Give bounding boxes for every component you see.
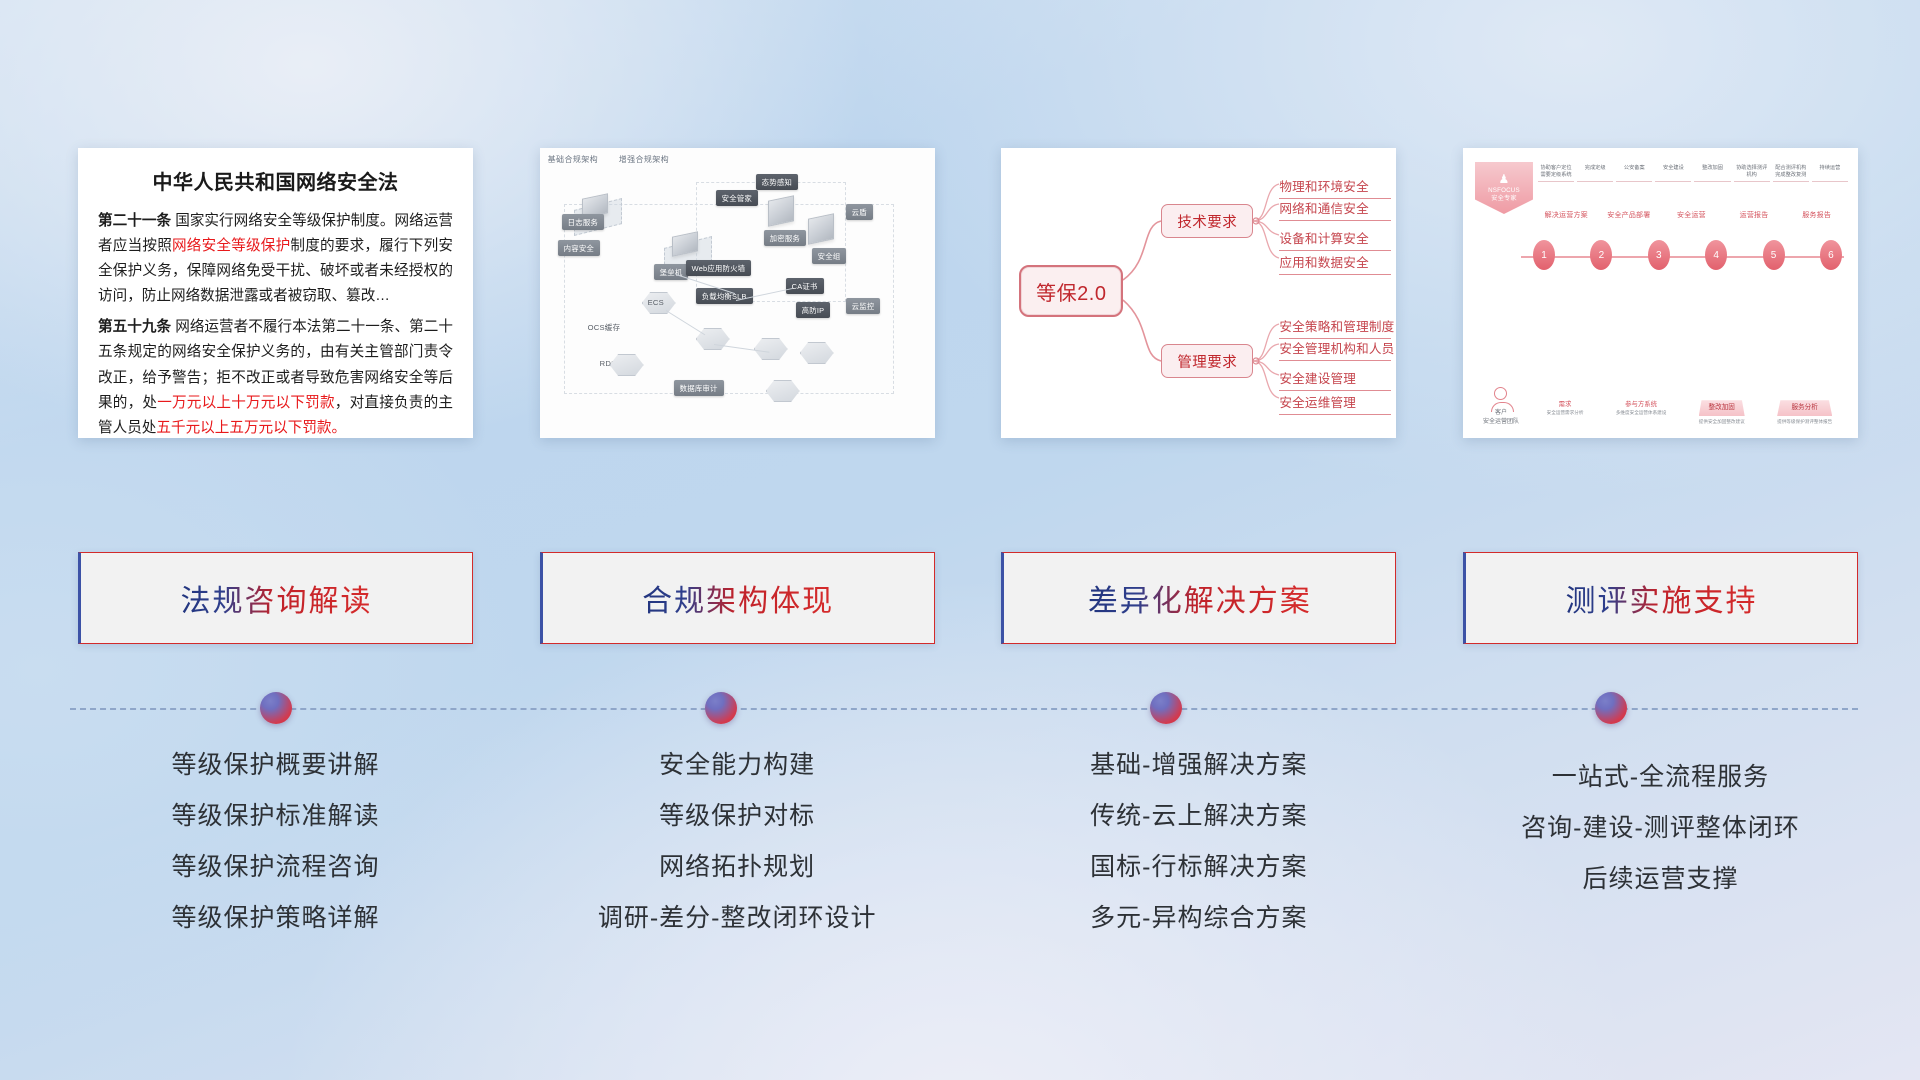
nsfocus-step-dot: 3 bbox=[1648, 240, 1670, 270]
nsfocus-process-chips: 协助客户定位需要定级系统 完成定级 公安备案 安全建设 整改加固 协助选择测评机… bbox=[1538, 162, 1848, 182]
category-header-label: 测评实施支持 bbox=[1565, 576, 1757, 620]
architecture-node-ocs: OCS缓存 bbox=[588, 322, 621, 333]
law-card-title: 中华人民共和国网络安全法 bbox=[98, 166, 453, 195]
timeline-dot-3[interactable] bbox=[1150, 692, 1182, 724]
nsfocus-report-label: 服务分析 bbox=[1777, 400, 1832, 416]
nsfocus-step-dot: 1 bbox=[1533, 240, 1555, 270]
service-list-row: 等级保护概要讲解 等级保护标准解读 等级保护流程咨询 等级保护策略详解 安全能力… bbox=[78, 740, 1858, 944]
category-header-compliance-architecture[interactable]: 合规架构体现 bbox=[540, 552, 935, 644]
nsfocus-tag-group: 需求 安全运营需求分析 参与方系统 多维度安全运营体系建设 整改加固 提供安全加… bbox=[1533, 400, 1846, 426]
nsfocus-report-tag: 服务分析 提供等级保护测评整体报告 bbox=[1777, 400, 1832, 426]
nsfocus-participation-tag: 参与方系统 多维度安全运营体系建设 bbox=[1616, 400, 1667, 426]
mindmap-branch-management: 管理要求 bbox=[1161, 344, 1253, 378]
nsfocus-brand: NSFOCUS bbox=[1488, 187, 1520, 195]
architecture-node-encryption-service: 加密服务 bbox=[764, 230, 806, 246]
nsfocus-step-dot: 4 bbox=[1705, 240, 1727, 270]
nsfocus-step-dot: 5 bbox=[1763, 240, 1785, 270]
list-item: 调研-差分-整改闭环设计 bbox=[540, 893, 935, 944]
architecture-node-content-security: 内容安全 bbox=[558, 240, 600, 256]
list-item: 咨询-建设-测评整体闭环 bbox=[1463, 803, 1858, 854]
nsfocus-stage: 解决运营方案 bbox=[1537, 210, 1596, 220]
nsfocus-chip: 公安备案 bbox=[1616, 165, 1652, 182]
shield-person-icon: ♟ bbox=[1498, 173, 1509, 185]
nsfocus-chip: 安全建设 bbox=[1655, 165, 1691, 182]
poster-stage: 中华人民共和国网络安全法 第二十一条 国家实行网络安全等级保护制度。网络运营者应… bbox=[0, 0, 1920, 1080]
nsfocus-rectification-tag: 整改加固 提供安全加固整改建议 bbox=[1699, 400, 1745, 426]
list-item: 等级保护策略详解 bbox=[78, 893, 473, 944]
mindmap-branch-technical: 技术要求 bbox=[1161, 204, 1253, 238]
list-item: 等级保护对标 bbox=[540, 791, 935, 842]
law-article-59-highlight-2: 五千元以上五万元以下罚款。 bbox=[156, 420, 346, 436]
architecture-node-waf: Web应用防火墙 bbox=[686, 260, 752, 276]
architecture-tag-enhanced: 增强合规架构 bbox=[619, 155, 669, 164]
service-list-differentiated-solution: 基础-增强解决方案 传统-云上解决方案 国标-行标解决方案 多元-异构综合方案 bbox=[1001, 740, 1396, 944]
nsfocus-participation-label: 参与方系统 bbox=[1616, 400, 1667, 410]
nsfocus-rectification-label: 整改加固 bbox=[1699, 400, 1745, 416]
mindmap-leaf-physical-env: 物理和环境安全 bbox=[1279, 176, 1391, 199]
architecture-node-situational-awareness: 态势感知 bbox=[756, 174, 798, 190]
architecture-node-cloud-shield: 云盾 bbox=[846, 204, 873, 220]
nsfocus-chip: 协助选择测评机构 bbox=[1734, 165, 1770, 182]
timeline-dot-row bbox=[78, 678, 1858, 738]
nsfocus-report-caption: 提供等级保护测评整体报告 bbox=[1777, 419, 1832, 426]
category-header-label: 合规架构体现 bbox=[642, 576, 834, 620]
nsfocus-customer-figure: 客户 安全运营团队 bbox=[1475, 387, 1527, 426]
architecture-node-cloud-monitor: 云监控 bbox=[846, 298, 881, 314]
architecture-node-db-audit: 数据库审计 bbox=[674, 380, 724, 396]
nsfocus-stage: 安全运营 bbox=[1662, 210, 1721, 220]
law-article-59-highlight: 一万元以上十万元以下罚款 bbox=[157, 395, 335, 411]
nsfocus-chip: 协助客户定位需要定级系统 bbox=[1538, 165, 1574, 182]
nsfocus-step-dot: 2 bbox=[1590, 240, 1612, 270]
architecture-node-ca-cert: CA证书 bbox=[786, 278, 824, 294]
law-article-21: 第二十一条 国家实行网络安全等级保护制度。网络运营者应当按照网络安全等级保护制度… bbox=[98, 209, 453, 309]
list-item: 安全能力构建 bbox=[540, 740, 935, 791]
law-article-59-number: 第五十九条 bbox=[98, 319, 171, 335]
category-header-label: 差异化解决方案 bbox=[1088, 576, 1312, 620]
nsfocus-brand-sub: 安全专家 bbox=[1491, 195, 1517, 203]
service-list-compliance-architecture: 安全能力构建 等级保护对标 网络拓扑规划 调研-差分-整改闭环设计 bbox=[540, 740, 935, 944]
mindmap-leaf-operations: 安全运维管理 bbox=[1279, 392, 1391, 415]
service-list-regulation-consulting: 等级保护概要讲解 等级保护标准解读 等级保护流程咨询 等级保护策略详解 bbox=[78, 740, 473, 944]
compliance-architecture-card: 基础合规架构 增强合规架构 安全管家 态势感知 日志服务 内容安全 堡垒机 加密… bbox=[540, 148, 935, 438]
mindmap-leaf-policy-system: 安全策略和管理制度 bbox=[1279, 316, 1391, 339]
architecture-tag-basic: 基础合规架构 bbox=[548, 155, 598, 164]
nsfocus-rectification-caption: 提供安全加固整改建议 bbox=[1699, 419, 1745, 426]
illustration-card-row: 中华人民共和国网络安全法 第二十一条 国家实行网络安全等级保护制度。网络运营者应… bbox=[78, 148, 1858, 438]
category-header-differentiated-solution[interactable]: 差异化解决方案 bbox=[1001, 552, 1396, 644]
nsfocus-logo: ♟ NSFOCUS 安全专家 bbox=[1475, 162, 1533, 214]
category-header-assessment-support[interactable]: 测评实施支持 bbox=[1463, 552, 1858, 644]
law-article-21-highlight: 网络安全等级保护 bbox=[172, 238, 290, 254]
timeline-dot-1[interactable] bbox=[260, 692, 292, 724]
nsfocus-chip: 完成定级 bbox=[1577, 165, 1613, 182]
category-header-row: 法规咨询解读 合规架构体现 差异化解决方案 测评实施支持 bbox=[78, 552, 1858, 644]
nsfocus-demand-caption: 安全运营需求分析 bbox=[1547, 410, 1584, 417]
nsfocus-top-row: ♟ NSFOCUS 安全专家 协助客户定位需要定级系统 完成定级 公安备案 安全… bbox=[1475, 162, 1848, 214]
cybersecurity-law-card: 中华人民共和国网络安全法 第二十一条 国家实行网络安全等级保护制度。网络运营者应… bbox=[78, 148, 473, 438]
architecture-card-header: 基础合规架构 增强合规架构 bbox=[548, 154, 687, 165]
mindmap-leaf-app-data: 应用和数据安全 bbox=[1279, 252, 1391, 275]
list-item: 等级保护标准解读 bbox=[78, 791, 473, 842]
nsfocus-customer-caption: 安全运营团队 bbox=[1475, 418, 1527, 426]
nsfocus-chip: 配合测评机构完成整改复测 bbox=[1773, 165, 1809, 182]
nsfocus-service-flow-card: ♟ NSFOCUS 安全专家 协助客户定位需要定级系统 完成定级 公安备案 安全… bbox=[1463, 148, 1858, 438]
architecture-node-ecs: ECS bbox=[648, 298, 664, 307]
timeline-dot-4[interactable] bbox=[1595, 692, 1627, 724]
architecture-node-log-service: 日志服务 bbox=[562, 214, 604, 230]
nsfocus-demand-tag: 需求 安全运营需求分析 bbox=[1547, 400, 1584, 426]
architecture-node-security-butler: 安全管家 bbox=[716, 190, 758, 206]
category-header-regulation-consulting[interactable]: 法规咨询解读 bbox=[78, 552, 473, 644]
dengbao-mindmap-card: 等保2.0 技术要求 物理和环境安全 网络和通信安全 设备和计算安全 应用和数据… bbox=[1001, 148, 1396, 438]
mindmap-leaf-network-comm: 网络和通信安全 bbox=[1279, 198, 1391, 221]
mindmap-root-node: 等保2.0 bbox=[1019, 265, 1123, 317]
category-header-label: 法规咨询解读 bbox=[181, 576, 373, 620]
nsfocus-stage: 运营报告 bbox=[1725, 210, 1784, 220]
law-article-21-number: 第二十一条 bbox=[98, 213, 171, 229]
list-item: 基础-增强解决方案 bbox=[1001, 740, 1396, 791]
mindmap-leaf-device-compute: 设备和计算安全 bbox=[1279, 228, 1391, 251]
nsfocus-stage-labels: 解决运营方案 安全产品部署 安全运营 运营报告 服务报告 bbox=[1537, 210, 1846, 220]
list-item: 一站式-全流程服务 bbox=[1463, 752, 1858, 803]
nsfocus-demand-label: 需求 bbox=[1547, 400, 1584, 410]
list-item: 国标-行标解决方案 bbox=[1001, 842, 1396, 893]
list-item: 等级保护概要讲解 bbox=[78, 740, 473, 791]
list-item: 多元-异构综合方案 bbox=[1001, 893, 1396, 944]
mindmap-leaf-org-personnel: 安全管理机构和人员 bbox=[1279, 338, 1391, 361]
person-icon bbox=[1494, 387, 1507, 400]
nsfocus-chip: 持续运营 bbox=[1812, 165, 1848, 182]
timeline-dot-2[interactable] bbox=[705, 692, 737, 724]
service-list-assessment-support: 一站式-全流程服务 咨询-建设-测评整体闭环 后续运营支撑 bbox=[1463, 740, 1858, 944]
list-item: 后续运营支撑 bbox=[1463, 854, 1858, 905]
law-article-59: 第五十九条 网络运营者不履行本法第二十一条、第二十五条规定的网络安全保护义务的，… bbox=[98, 315, 453, 438]
mindmap-leaf-construction: 安全建设管理 bbox=[1279, 368, 1391, 391]
list-item: 传统-云上解决方案 bbox=[1001, 791, 1396, 842]
nsfocus-chip: 整改加固 bbox=[1694, 165, 1730, 182]
nsfocus-step-dots: 1 2 3 4 5 6 bbox=[1533, 240, 1842, 270]
nsfocus-stage: 服务报告 bbox=[1787, 210, 1846, 220]
architecture-node-security-group: 安全组 bbox=[812, 248, 847, 264]
nsfocus-participation-caption: 多维度安全运营体系建设 bbox=[1616, 410, 1667, 417]
architecture-node-anti-ddos: 高防IP bbox=[796, 302, 831, 318]
architecture-canvas: 安全管家 态势感知 日志服务 内容安全 堡垒机 加密服务 安全组 Web应用防火… bbox=[546, 168, 929, 432]
nsfocus-bottom-row: 客户 安全运营团队 需求 安全运营需求分析 参与方系统 多维度安全运营体系建设 … bbox=[1475, 387, 1846, 426]
nsfocus-stage: 安全产品部署 bbox=[1600, 210, 1659, 220]
list-item: 网络拓扑规划 bbox=[540, 842, 935, 893]
list-item: 等级保护流程咨询 bbox=[78, 842, 473, 893]
nsfocus-step-dot: 6 bbox=[1820, 240, 1842, 270]
